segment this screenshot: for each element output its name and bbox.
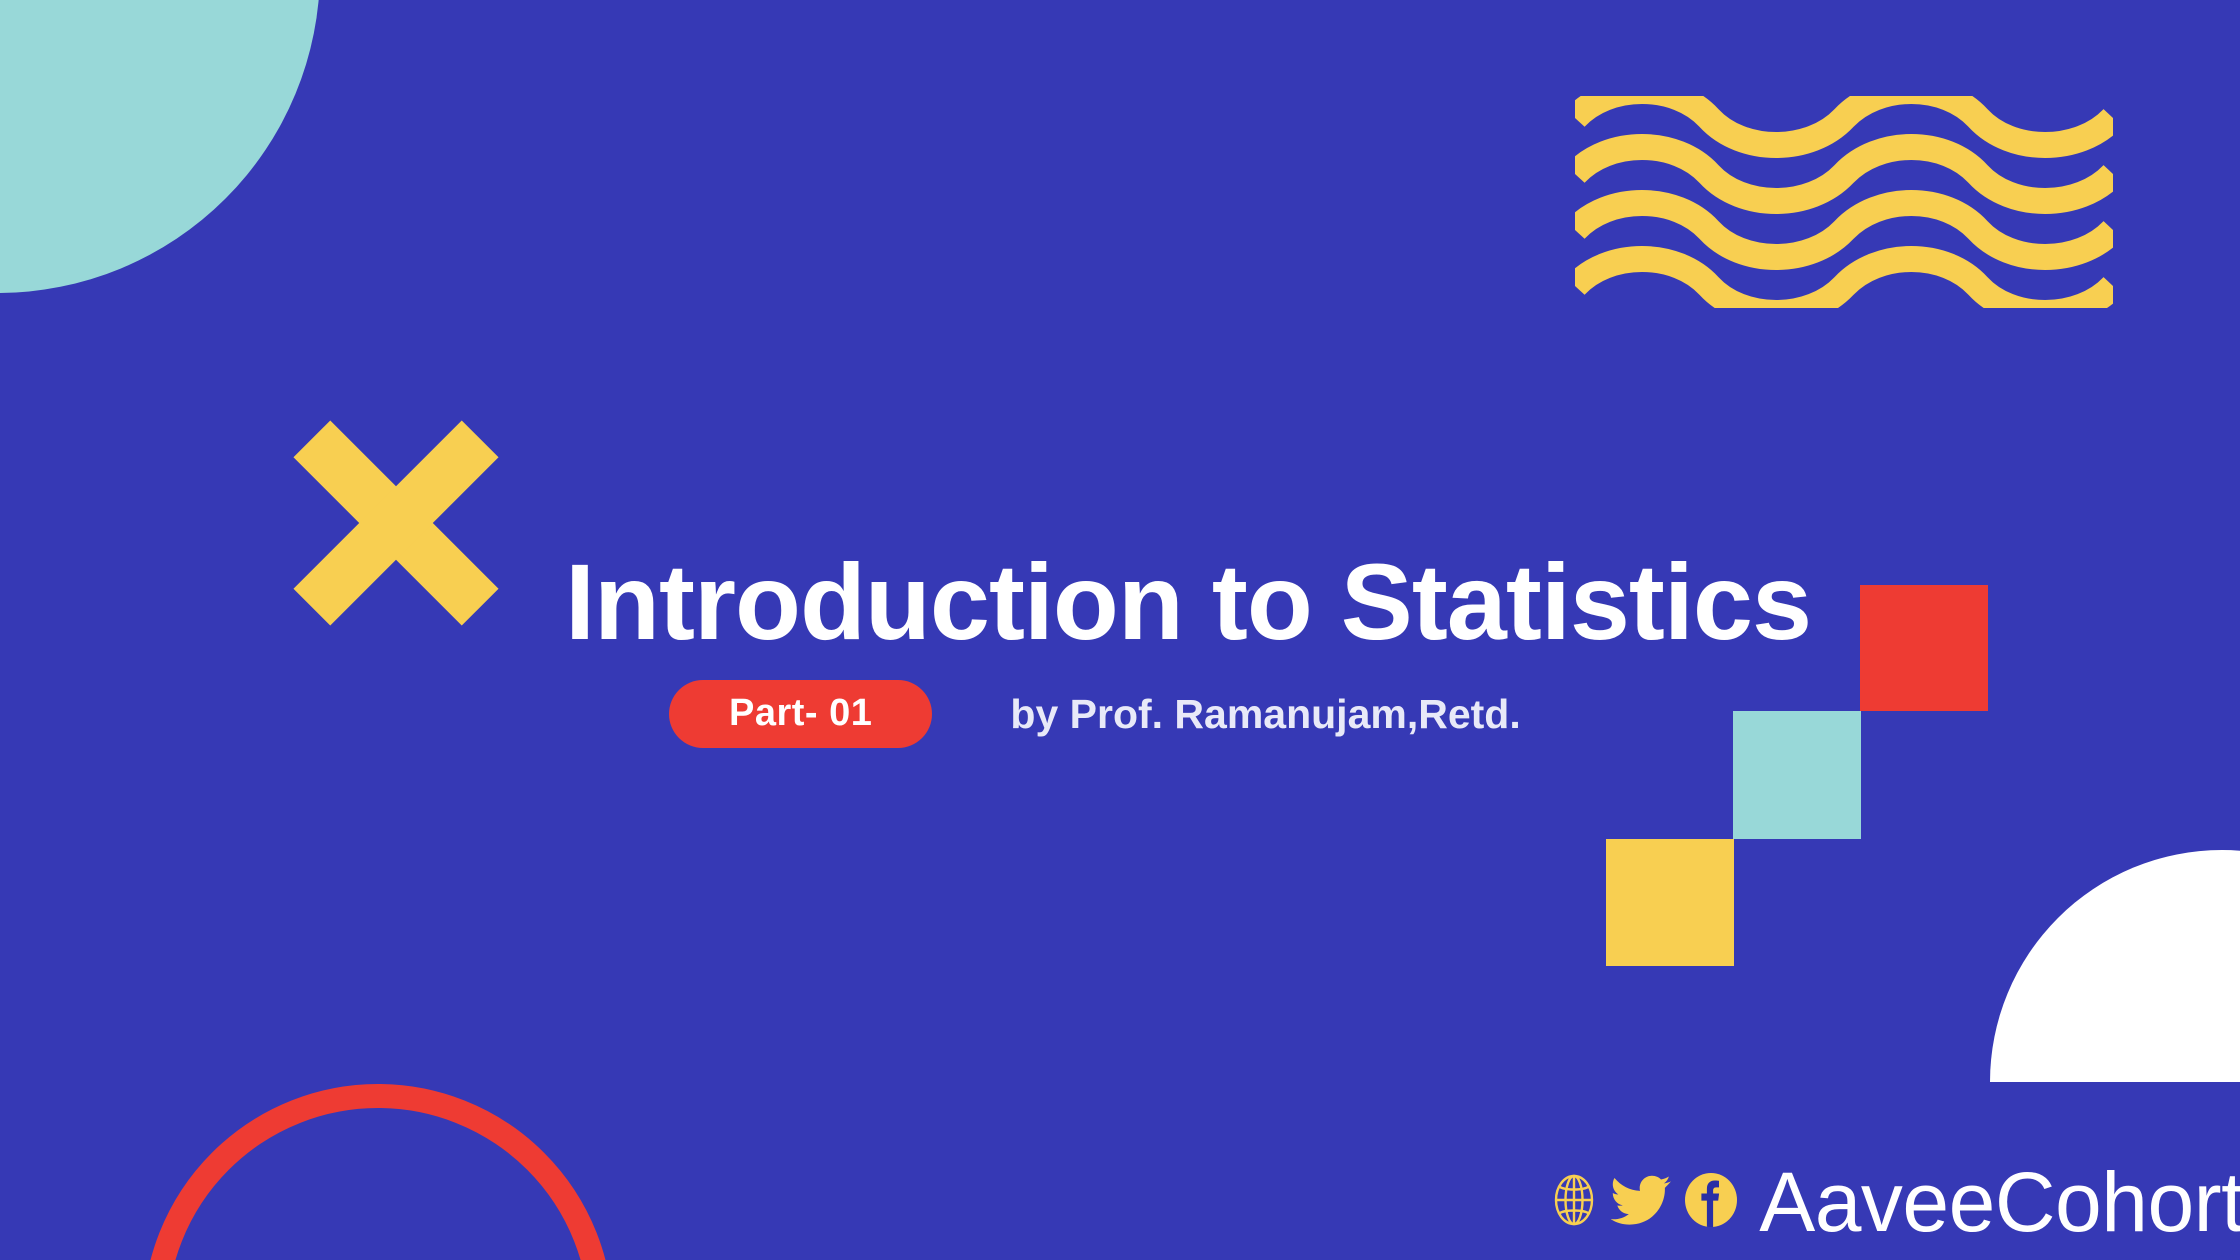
wave-band-top-right-shape [1575,96,2113,308]
ring-red-bottom-left-shape [143,1084,613,1260]
semicircle-teal-top-left-shape [0,0,320,293]
cross-yellow-shape [300,425,492,621]
presenter-byline: by Prof. Ramanujam,Retd. [1010,691,1520,738]
subtitle-row: Part- 01 by Prof. Ramanujam,Retd. [669,680,1765,748]
presentation-title-slide: Introduction to Statistics Part- 01 by P… [0,0,2240,1260]
twitter-icon [1611,1174,1671,1231]
semicircle-white-bottom-right-shape [1990,850,2240,1082]
globe-icon [1551,1173,1597,1232]
facebook-icon [1685,1173,1737,1232]
title-block: Introduction to Statistics Part- 01 by P… [565,548,1765,748]
part-badge: Part- 01 [669,680,932,748]
brand-bar: AaveeCohort [1551,1160,2240,1244]
page-title: Introduction to Statistics [565,548,1765,656]
square-red-shape [1860,585,1988,711]
square-yellow-shape [1606,839,1734,966]
brand-name: AaveeCohort [1759,1160,2240,1244]
